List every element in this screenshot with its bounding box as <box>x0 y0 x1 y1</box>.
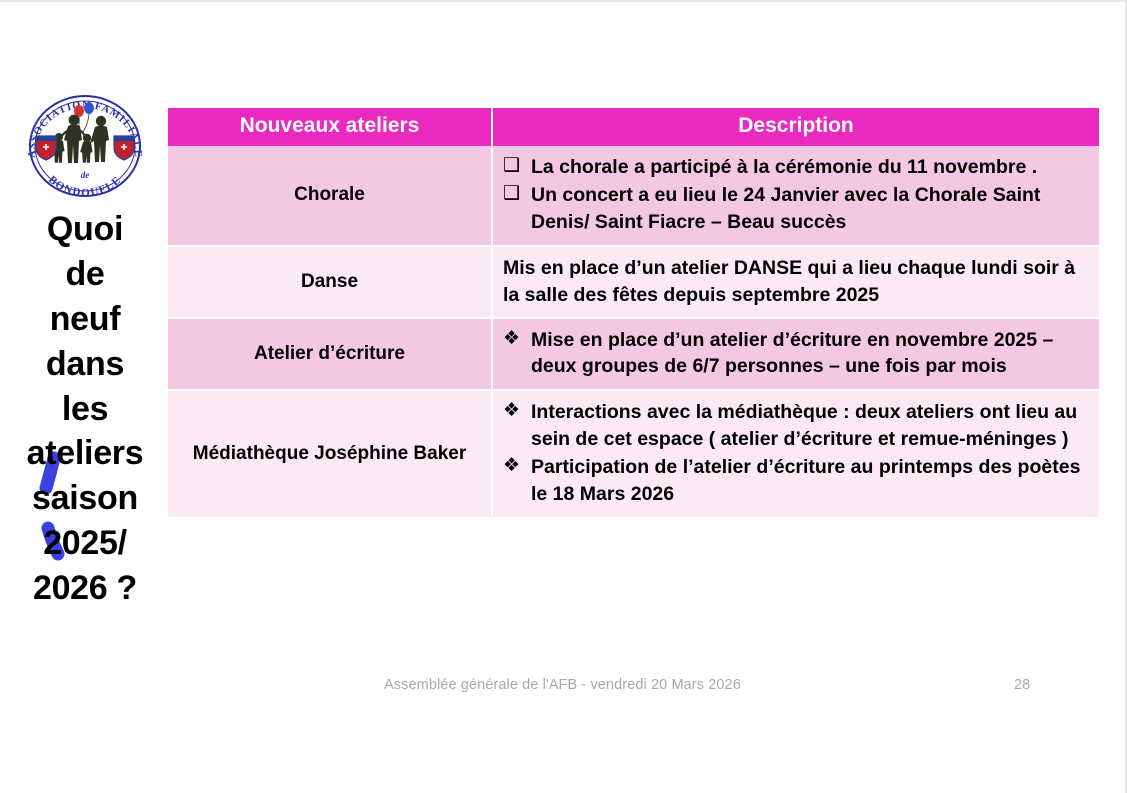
square-bullet-icon: ❑ <box>503 153 520 179</box>
table-row: Médiathèque Joséphine Baker ❖ Interactio… <box>168 391 1099 517</box>
atelier-description-atelier-decriture: ❖ Mise en place d’un atelier d’écriture … <box>493 319 1099 392</box>
bullet-list: ❖ Mise en place d’un atelier d’écriture … <box>503 327 1089 381</box>
bullet-list: ❑ La chorale a participé à la cérémonie … <box>503 154 1089 236</box>
table-body: Chorale ❑ La chorale a participé à la cé… <box>168 146 1099 517</box>
svg-text:de: de <box>81 170 90 180</box>
atelier-description-mediatheque: ❖ Interactions avec la médiathèque : deu… <box>493 391 1099 517</box>
square-bullet-icon: ❑ <box>503 181 520 207</box>
description-text: Mis en place d’un atelier DANSE qui a li… <box>503 255 1089 309</box>
title-line: de <box>6 252 164 297</box>
title-line: ateliers <box>6 431 164 476</box>
diamond-bullet-icon: ❖ <box>503 398 520 424</box>
list-item: ❖ Participation de l’atelier d’écriture … <box>503 454 1089 508</box>
page-title: Quoi de neuf dans les ateliers saison 20… <box>6 207 164 611</box>
list-item-text: Un concert a eu lieu le 24 Janvier avec … <box>531 184 1040 233</box>
diamond-bullet-icon: ❖ <box>503 453 520 479</box>
footer-note: Assemblée générale de l'AFB - vendredi 2… <box>384 677 741 693</box>
title-line: dans <box>6 342 164 387</box>
atelier-name-mediatheque-josephine-baker: Médiathèque Joséphine Baker <box>168 391 493 517</box>
shield-right <box>114 136 134 160</box>
title-line: neuf <box>6 297 164 342</box>
ateliers-table: Nouveaux ateliers Description Chorale ❑ … <box>168 108 1099 517</box>
table-row: Danse Mis en place d’un atelier DANSE qu… <box>168 247 1099 319</box>
title-line: saison <box>6 476 164 521</box>
list-item: ❑ La chorale a participé à la cérémonie … <box>503 154 1089 181</box>
list-item: ❖ Mise en place d’un atelier d’écriture … <box>503 327 1089 381</box>
title-line: 2025/ <box>6 521 164 566</box>
list-item-text: Participation de l’atelier d’écriture au… <box>531 456 1080 505</box>
list-item-text: Mise en place d’un atelier d’écriture en… <box>531 329 1053 378</box>
bullet-list: ❖ Interactions avec la médiathèque : deu… <box>503 399 1089 508</box>
atelier-name-chorale: Chorale <box>168 146 493 247</box>
table-row: Chorale ❑ La chorale a participé à la cé… <box>168 146 1099 247</box>
title-block: ASSOCIATION FAMILIALE BONDOUFLE de <box>6 92 164 652</box>
table-header-row: Nouveaux ateliers Description <box>168 108 1099 146</box>
atelier-description-chorale: ❑ La chorale a participé à la cérémonie … <box>493 146 1099 247</box>
atelier-name-danse: Danse <box>168 247 493 319</box>
title-line: Quoi <box>6 207 164 252</box>
slide-canvas: ASSOCIATION FAMILIALE BONDOUFLE de <box>0 0 1127 793</box>
atelier-name-atelier-decriture: Atelier d’écriture <box>168 319 493 392</box>
column-header-description: Description <box>493 108 1099 146</box>
list-item-text: La chorale a participé à la cérémonie du… <box>531 156 1037 178</box>
list-item-text: Interactions avec la médiathèque : deux … <box>531 401 1077 450</box>
title-line: les <box>6 387 164 432</box>
title-line: 2026 ? <box>6 566 164 611</box>
list-item: ❑ Un concert a eu lieu le 24 Janvier ave… <box>503 182 1089 236</box>
table-header: Nouveaux ateliers Description <box>168 108 1099 146</box>
page-number: 28 <box>1014 677 1030 693</box>
association-logo: ASSOCIATION FAMILIALE BONDOUFLE de <box>21 92 149 200</box>
list-item: ❖ Interactions avec la médiathèque : deu… <box>503 399 1089 453</box>
table-row: Atelier d’écriture ❖ Mise en place d’un … <box>168 319 1099 392</box>
atelier-description-danse: Mis en place d’un atelier DANSE qui a li… <box>493 247 1099 319</box>
shield-left <box>36 136 56 160</box>
column-header-nouveaux-ateliers: Nouveaux ateliers <box>168 108 493 146</box>
diamond-bullet-icon: ❖ <box>503 326 520 352</box>
